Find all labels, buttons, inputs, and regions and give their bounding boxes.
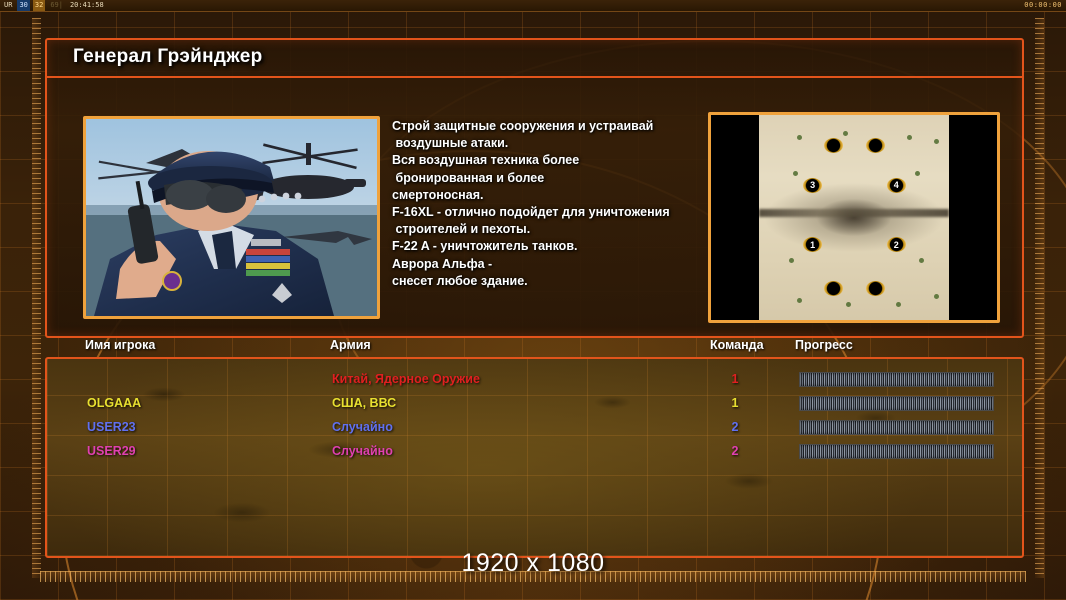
map-start-position-3: 3 — [803, 178, 822, 193]
general-description: Строй защитные сооружения и устраивай во… — [392, 118, 702, 290]
column-header-army: Армия — [330, 338, 371, 352]
top-status-left: UR 30 32 69| 20:41:58 — [0, 0, 106, 11]
status-clock: 20:41:58 — [68, 0, 106, 11]
table-row[interactable]: Китай, Ядерное Оружие1 — [47, 367, 1022, 391]
map-marker-7 — [866, 281, 885, 296]
status-chip-3: 69| — [48, 0, 65, 11]
map-vegetation-marker — [919, 258, 924, 263]
match-timer: 00:00:00 — [1024, 0, 1066, 11]
resolution-label: 1920 x 1080 — [0, 549, 1066, 578]
column-header-name: Имя игрока — [85, 338, 155, 352]
map-terrain — [759, 115, 949, 320]
general-portrait — [83, 116, 380, 319]
map-vegetation-marker — [896, 302, 901, 307]
player-army[interactable]: Китай, Ядерное Оружие — [332, 367, 480, 391]
player-progress-bar — [799, 420, 994, 435]
player-army[interactable]: США, ВВС — [332, 391, 396, 415]
player-team[interactable]: 2 — [724, 439, 746, 463]
map-vegetation-marker — [934, 139, 939, 144]
column-header-team: Команда — [710, 338, 764, 352]
map-letterbox-right — [949, 115, 997, 320]
table-row[interactable]: USER29Случайно2 — [47, 439, 1022, 463]
player-team[interactable]: 2 — [724, 415, 746, 439]
portrait-image — [86, 119, 377, 316]
player-progress-bar — [799, 396, 994, 411]
status-chip-1: 30 — [17, 0, 29, 11]
player-progress-bar — [799, 372, 994, 387]
status-chip-2: 32 — [33, 0, 45, 11]
table-row[interactable]: OLGAAAСША, ВВС1 — [47, 391, 1022, 415]
map-start-position-4: 4 — [887, 178, 906, 193]
map-vegetation-marker — [915, 171, 920, 176]
player-name[interactable]: USER23 — [87, 415, 136, 439]
ruler-left — [32, 18, 41, 578]
player-name[interactable]: OLGAAA — [87, 391, 141, 415]
panel-title-bar: Генерал Грэйнджер — [47, 40, 1022, 78]
map-vegetation-marker — [843, 131, 848, 136]
player-army[interactable]: Случайно — [332, 439, 393, 463]
player-army[interactable]: Случайно — [332, 415, 393, 439]
map-marker-5 — [866, 138, 885, 153]
ruler-right — [1035, 18, 1044, 578]
map-marker-4 — [824, 138, 843, 153]
player-team[interactable]: 1 — [724, 391, 746, 415]
column-header-progress: Прогресс — [795, 338, 853, 352]
player-progress-bar — [799, 444, 994, 459]
general-info-panel: Генерал Грэйнджер — [45, 38, 1024, 338]
map-vegetation-marker — [793, 171, 798, 176]
map-letterbox-left — [711, 115, 759, 320]
map-preview: 3412 — [708, 112, 1000, 323]
status-chip-0: UR — [2, 0, 14, 11]
map-vegetation-marker — [797, 135, 802, 140]
player-team[interactable]: 1 — [724, 367, 746, 391]
top-status-bar: UR 30 32 69| 20:41:58 00:00:00 — [0, 0, 1066, 12]
map-river — [759, 209, 949, 217]
map-vegetation-marker — [934, 294, 939, 299]
roster-column-headers: Имя игрока Армия Команда Прогресс — [45, 338, 1020, 358]
player-roster-panel: Китай, Ядерное Оружие1OLGAAAСША, ВВС1USE… — [45, 357, 1024, 558]
player-name[interactable]: USER29 — [87, 439, 136, 463]
page-title: Генерал Грэйнджер — [73, 46, 263, 68]
table-row[interactable]: USER23Случайно2 — [47, 415, 1022, 439]
game-lobby-screen: UR 30 32 69| 20:41:58 00:00:00 Генерал Г… — [0, 0, 1066, 600]
